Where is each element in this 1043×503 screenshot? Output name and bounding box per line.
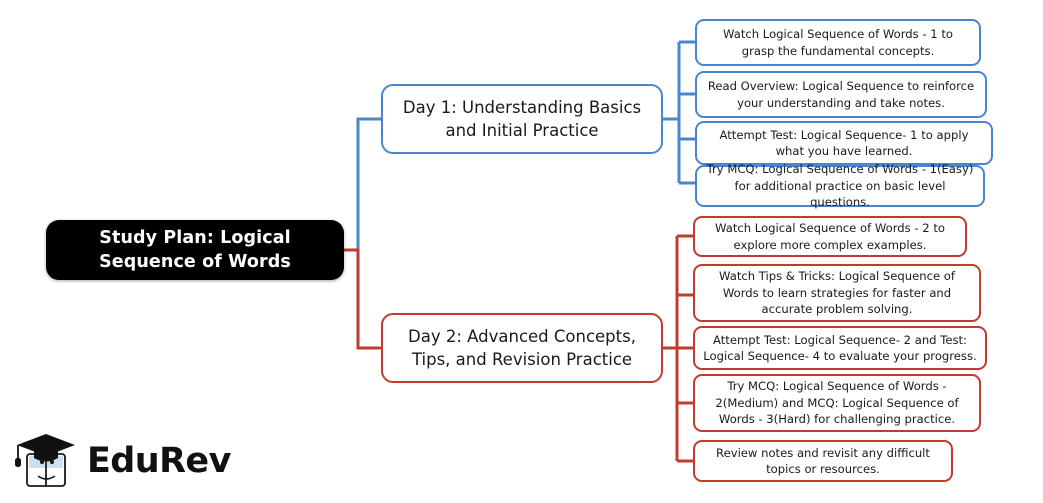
leaf-node-day2-4-label: Try MCQ: Logical Sequence of Words - 2(M… <box>703 378 971 427</box>
leaf-node-day2-5[interactable]: Review notes and revisit any difficult t… <box>693 440 953 482</box>
branch-node-day-2-label: Day 2: Advanced Concepts, Tips, and Revi… <box>392 325 652 371</box>
branch-node-day-1-label: Day 1: Understanding Basics and Initial … <box>392 96 652 142</box>
leaf-node-day2-5-label: Review notes and revisit any difficult t… <box>703 445 943 478</box>
leaf-node-day1-2[interactable]: Read Overview: Logical Sequence to reinf… <box>695 71 987 118</box>
graduation-cap-book-icon <box>14 432 78 494</box>
connector-day1-to-leaves <box>661 42 697 183</box>
connector-root-to-day2 <box>341 250 384 348</box>
root-node-label: Study Plan: Logical Sequence of Words <box>56 226 334 274</box>
leaf-node-day2-1-label: Watch Logical Sequence of Words - 2 to e… <box>703 220 957 253</box>
leaf-node-day1-1[interactable]: Watch Logical Sequence of Words - 1 to g… <box>695 19 981 66</box>
connector-root-to-day1 <box>341 119 384 250</box>
edurev-wordmark: EduRev <box>87 444 231 483</box>
leaf-node-day2-4[interactable]: Try MCQ: Logical Sequence of Words - 2(M… <box>693 374 981 432</box>
leaf-node-day2-3-label: Attempt Test: Logical Sequence- 2 and Te… <box>703 332 977 365</box>
leaf-node-day1-4-label: Try MCQ: Logical Sequence of Words - 1(E… <box>705 161 975 210</box>
leaf-node-day2-2[interactable]: Watch Tips & Tricks: Logical Sequence of… <box>693 264 981 322</box>
leaf-node-day1-4[interactable]: Try MCQ: Logical Sequence of Words - 1(E… <box>695 165 985 207</box>
edurev-logo: EduRev <box>14 430 229 496</box>
branch-node-day-2[interactable]: Day 2: Advanced Concepts, Tips, and Revi… <box>381 313 663 383</box>
leaf-node-day1-3[interactable]: Attempt Test: Logical Sequence- 1 to app… <box>695 121 993 165</box>
leaf-node-day2-1[interactable]: Watch Logical Sequence of Words - 2 to e… <box>693 216 967 257</box>
root-node[interactable]: Study Plan: Logical Sequence of Words <box>46 220 344 280</box>
connector-day2-to-leaves <box>661 236 694 461</box>
leaf-node-day1-2-label: Read Overview: Logical Sequence to reinf… <box>705 78 977 111</box>
leaf-node-day2-2-label: Watch Tips & Tricks: Logical Sequence of… <box>703 268 971 317</box>
leaf-node-day1-1-label: Watch Logical Sequence of Words - 1 to g… <box>705 26 971 59</box>
leaf-node-day2-3[interactable]: Attempt Test: Logical Sequence- 2 and Te… <box>693 326 987 370</box>
mind-map-canvas: Study Plan: Logical Sequence of Words Da… <box>0 0 1043 503</box>
leaf-node-day1-3-label: Attempt Test: Logical Sequence- 1 to app… <box>705 127 983 160</box>
branch-node-day-1[interactable]: Day 1: Understanding Basics and Initial … <box>381 84 663 154</box>
